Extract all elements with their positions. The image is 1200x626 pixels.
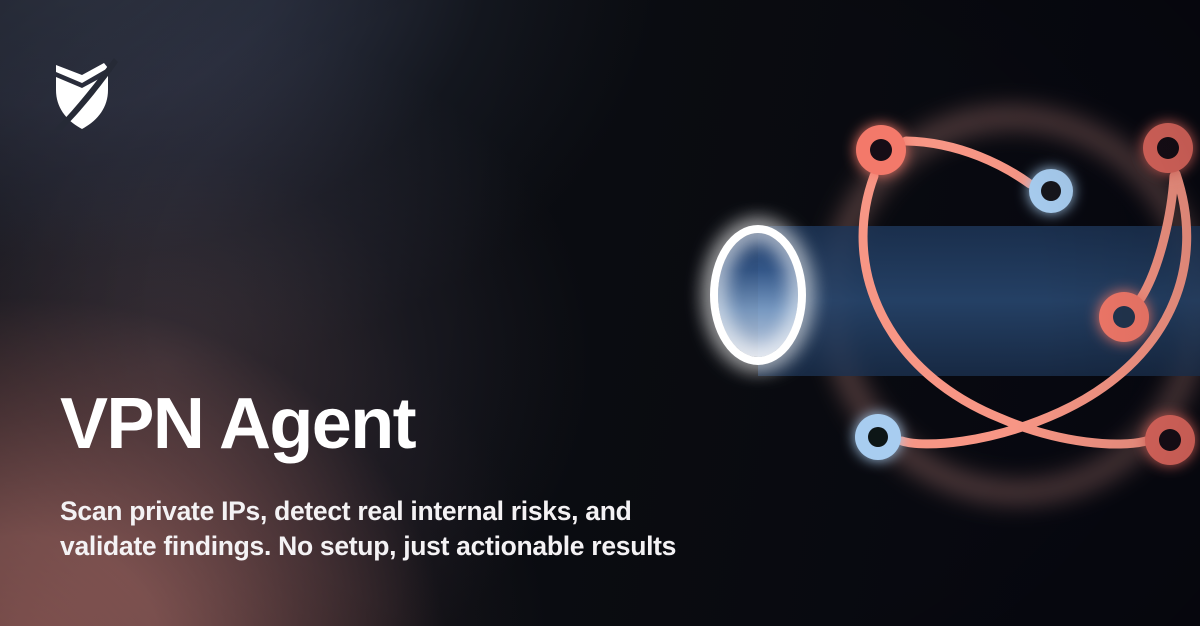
page-subtitle-line-1: Scan private IPs, detect real internal r… — [60, 494, 760, 529]
shield-swoosh-logo — [52, 56, 118, 132]
hero-copy: VPN Agent Scan private IPs, detect real … — [60, 388, 820, 564]
vpn-agent-banner: VPN Agent Scan private IPs, detect real … — [0, 0, 1200, 626]
page-subtitle-line-2: validate findings. No setup, just action… — [60, 529, 760, 564]
page-title: VPN Agent — [60, 388, 820, 460]
page-subtitle: Scan private IPs, detect real internal r… — [60, 494, 760, 564]
